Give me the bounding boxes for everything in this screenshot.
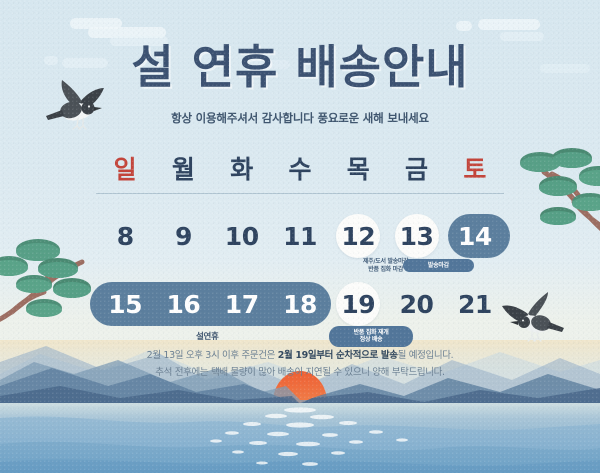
delivery-note: 2월 13일 오후 3시 이후 주문건은 2월 19일부터 순차적으로 발송될 … [0, 348, 600, 381]
weekday-tue: 화 [213, 150, 271, 186]
page-title: 설 연휴 배송안내 [0, 44, 600, 90]
day-number: 14 [458, 224, 492, 249]
day-cell-20[interactable]: 20 [387, 274, 445, 334]
day-13-badge: 발송마감 [403, 259, 474, 272]
day-number: 9 [175, 224, 192, 249]
day-cell-21[interactable]: 21 [446, 274, 504, 334]
day-cell-8[interactable]: 8 [96, 206, 154, 266]
poster-canvas: 설 연휴 배송안내 항상 이용해주셔서 감사합니다 풍요로운 새해 보내세요 일… [0, 0, 600, 473]
weekday-wed: 수 [271, 150, 329, 186]
day-cell-13[interactable]: 13 [387, 206, 445, 266]
day-19-badge: 반품 집화 재개 정상 배송 [329, 326, 412, 347]
weekday-fri: 금 [387, 150, 445, 186]
calendar-week-2: 15 16 17 18 19 20 21 [96, 274, 504, 334]
day-number: 8 [117, 224, 134, 249]
day-cell-11[interactable]: 11 [271, 206, 329, 266]
weekday-sun: 일 [96, 150, 154, 186]
day-cell-10[interactable]: 10 [213, 206, 271, 266]
day-number: 13 [400, 224, 434, 249]
day-number: 20 [400, 292, 434, 317]
calendar-weekday-header: 일 월 화 수 목 금 토 [96, 150, 504, 194]
day-number: 17 [225, 292, 259, 317]
weekday-thu: 목 [329, 150, 387, 186]
note-line-1-emphasis: 2월 19일부터 순차적으로 발송 [278, 350, 398, 361]
day-number: 12 [341, 224, 375, 249]
weekday-sat: 토 [446, 150, 504, 186]
day-number: 16 [167, 292, 201, 317]
day-number: 21 [458, 292, 492, 317]
note-line-1: 2월 13일 오후 3시 이후 주문건은 2월 19일부터 순차적으로 발송될 … [0, 348, 600, 365]
calendar-week-1: 8 9 10 11 12 13 [96, 206, 504, 266]
holiday-label: 설연휴 [196, 330, 219, 342]
note-line-1-prefix: 2월 13일 오후 3시 이후 주문건은 [147, 350, 278, 361]
calendar: 일 월 화 수 목 금 토 8 9 10 [96, 150, 504, 334]
day-number: 19 [341, 292, 375, 317]
day-number: 15 [108, 292, 142, 317]
note-line-1-suffix: 될 예정입니다. [398, 350, 454, 361]
day-cell-19[interactable]: 19 [329, 274, 387, 334]
day-number: 18 [283, 292, 317, 317]
day-number: 11 [283, 224, 317, 249]
day-cell-12[interactable]: 12 [329, 206, 387, 266]
poster-content: 설 연휴 배송안내 항상 이용해주셔서 감사합니다 풍요로운 새해 보내세요 일… [0, 0, 600, 473]
weekday-mon: 월 [154, 150, 212, 186]
day-cell-9[interactable]: 9 [154, 206, 212, 266]
page-subtitle: 항상 이용해주셔서 감사합니다 풍요로운 새해 보내세요 [0, 110, 600, 126]
day-number: 10 [225, 224, 259, 249]
note-line-2: 추석 전후에는 택배 물량이 많아 배송이 지연될 수 있으니 양해 부탁드립니… [0, 365, 600, 382]
